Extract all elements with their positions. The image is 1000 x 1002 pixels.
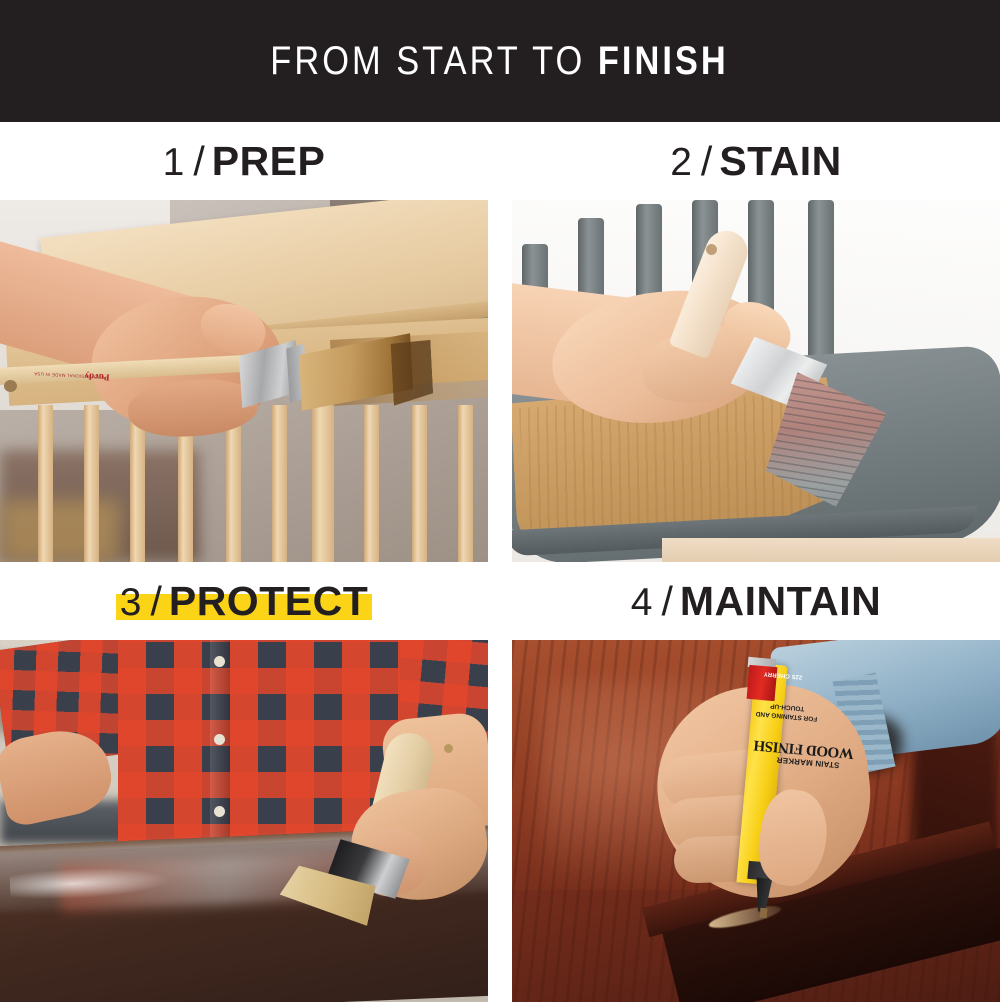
step-card-prep: 1/PREP	[0, 122, 488, 562]
step-label-prep: 1/PREP	[0, 122, 488, 200]
step-number: 2	[670, 141, 692, 184]
marker-felt-tip	[760, 908, 768, 919]
chair-spindle	[272, 405, 287, 562]
brush-handle-hole	[444, 744, 453, 753]
step-label-maintain: 4/MAINTAIN	[512, 562, 1000, 640]
shirt-button	[214, 734, 225, 745]
step-photo-protect	[0, 640, 488, 1002]
step-name: MAINTAIN	[680, 578, 881, 624]
step-card-protect: 3/PROTECT	[0, 562, 488, 1002]
steps-grid: 1/PREP	[0, 122, 1000, 1000]
header-bar: FROM START TO FINISH	[0, 0, 1000, 122]
step-label-stain: 2/STAIN	[512, 122, 1000, 200]
step-name: STAIN	[719, 138, 841, 184]
step-separator: /	[661, 578, 672, 624]
step-number: 4	[631, 581, 653, 624]
step-name: PROTECT	[169, 578, 368, 624]
background-floor-warm	[0, 500, 120, 562]
chair-spindle	[412, 405, 427, 562]
step-card-stain: 2/STAIN	[512, 122, 1000, 562]
step-photo-stain	[512, 200, 1000, 562]
step-separator: /	[150, 578, 161, 624]
step-name: PREP	[212, 138, 326, 184]
chair-spindle	[458, 405, 473, 562]
page-title-light: FROM START TO	[271, 39, 586, 83]
background-floor	[662, 538, 1000, 562]
step-card-maintain: 4/MAINTAIN	[512, 562, 1000, 1002]
chair-spindle	[312, 405, 334, 562]
chair-spindle	[84, 405, 99, 562]
page-title: FROM START TO FINISH	[271, 41, 729, 81]
page-title-bold: FINISH	[598, 39, 729, 83]
chair-spindle	[364, 405, 379, 562]
step-label-protect: 3/PROTECT	[0, 562, 488, 640]
shirt-button	[214, 656, 225, 667]
step-separator: /	[193, 138, 204, 184]
chair-spindle	[808, 200, 834, 372]
step-number: 1	[163, 141, 185, 184]
shirt-button	[214, 806, 225, 817]
step-photo-maintain: 225 CHERRY FOR STAINING AND TOUCH-UP WOO…	[512, 640, 1000, 1002]
shirt-placket	[210, 640, 230, 850]
step-photo-prep: Purdy PROFESSIONAL MADE IN USA	[0, 200, 488, 562]
step-separator: /	[701, 138, 712, 184]
infographic-page: FROM START TO FINISH 1/PREP	[0, 0, 1000, 1000]
step-number: 3	[120, 581, 142, 624]
chair-spindle	[38, 405, 53, 562]
